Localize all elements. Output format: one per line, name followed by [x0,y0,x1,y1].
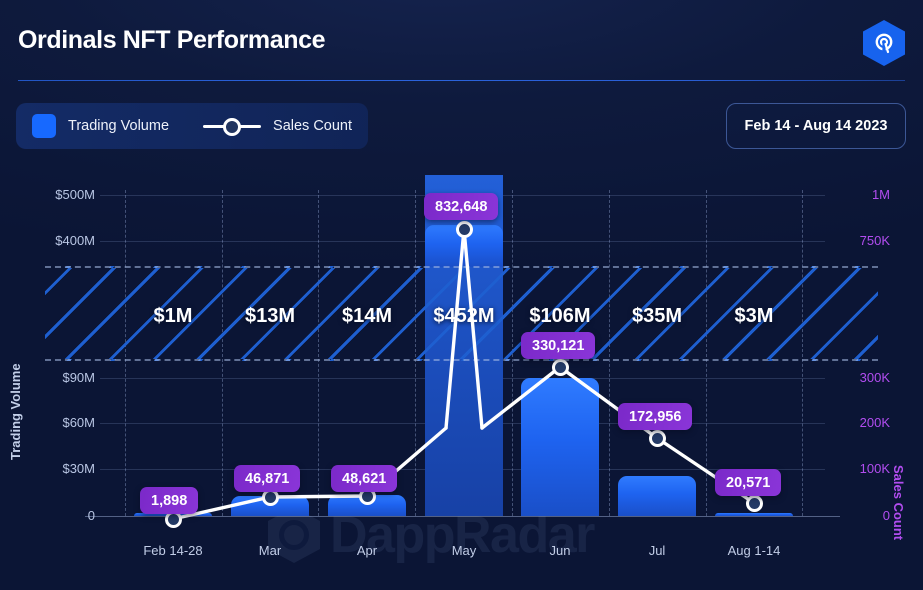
card-header: Ordinals NFT Performance [0,0,923,81]
x-label-aug: Aug 1-14 [684,543,824,558]
ytick-left-90m: $90M [35,370,95,385]
ytick-left-400m: $400M [35,233,95,248]
legend-item-trading-volume[interactable]: Trading Volume [16,114,169,138]
y-axis-title-right: Sales Count [891,465,906,540]
ytick-right-0: 0 [828,508,890,523]
marker-jun[interactable] [552,359,569,376]
dappradar-logo-icon [863,20,905,66]
ytick-left-500m: $500M [35,187,95,202]
ytick-right-200k: 200K [828,415,890,430]
legend-line-marker-icon [203,116,261,136]
data-label-jun: 330,121 [521,332,595,359]
legend-swatch-icon [32,114,56,138]
legend-item-sales-count[interactable]: Sales Count [169,116,352,136]
marker-aug[interactable] [746,495,763,512]
data-label-apr: 48,621 [331,465,397,492]
data-label-mar: 46,871 [234,465,300,492]
marker-jul[interactable] [649,430,666,447]
chart-legend[interactable]: Trading Volume Sales Count [16,103,368,149]
ytick-right-1m: 1M [828,187,890,202]
legend-label-trading-volume: Trading Volume [68,118,169,134]
ytick-right-750k: 750K [828,233,890,248]
header-divider [18,80,905,81]
ytick-right-300k: 300K [828,370,890,385]
data-label-may: 832,648 [424,193,498,220]
marker-may[interactable] [456,221,473,238]
page-title: Ordinals NFT Performance [18,26,325,55]
chart-plot-area: DappRadar $1M $13M $14M $452M $106M $35M… [0,175,923,590]
data-label-aug: 20,571 [715,469,781,496]
legend-label-sales-count: Sales Count [273,118,352,134]
ytick-left-60m: $60M [35,415,95,430]
ytick-right-100k: 100K [828,461,890,476]
data-label-feb: 1,898 [140,487,198,514]
date-range-badge[interactable]: Feb 14 - Aug 14 2023 [726,103,906,149]
data-label-jul: 172,956 [618,403,692,430]
ytick-left-30m: $30M [35,461,95,476]
ytick-left-0: 0 [35,508,95,523]
y-axis-title-left: Trading Volume [8,363,23,460]
chart-card: Ordinals NFT Performance Trading Volume … [0,0,923,590]
